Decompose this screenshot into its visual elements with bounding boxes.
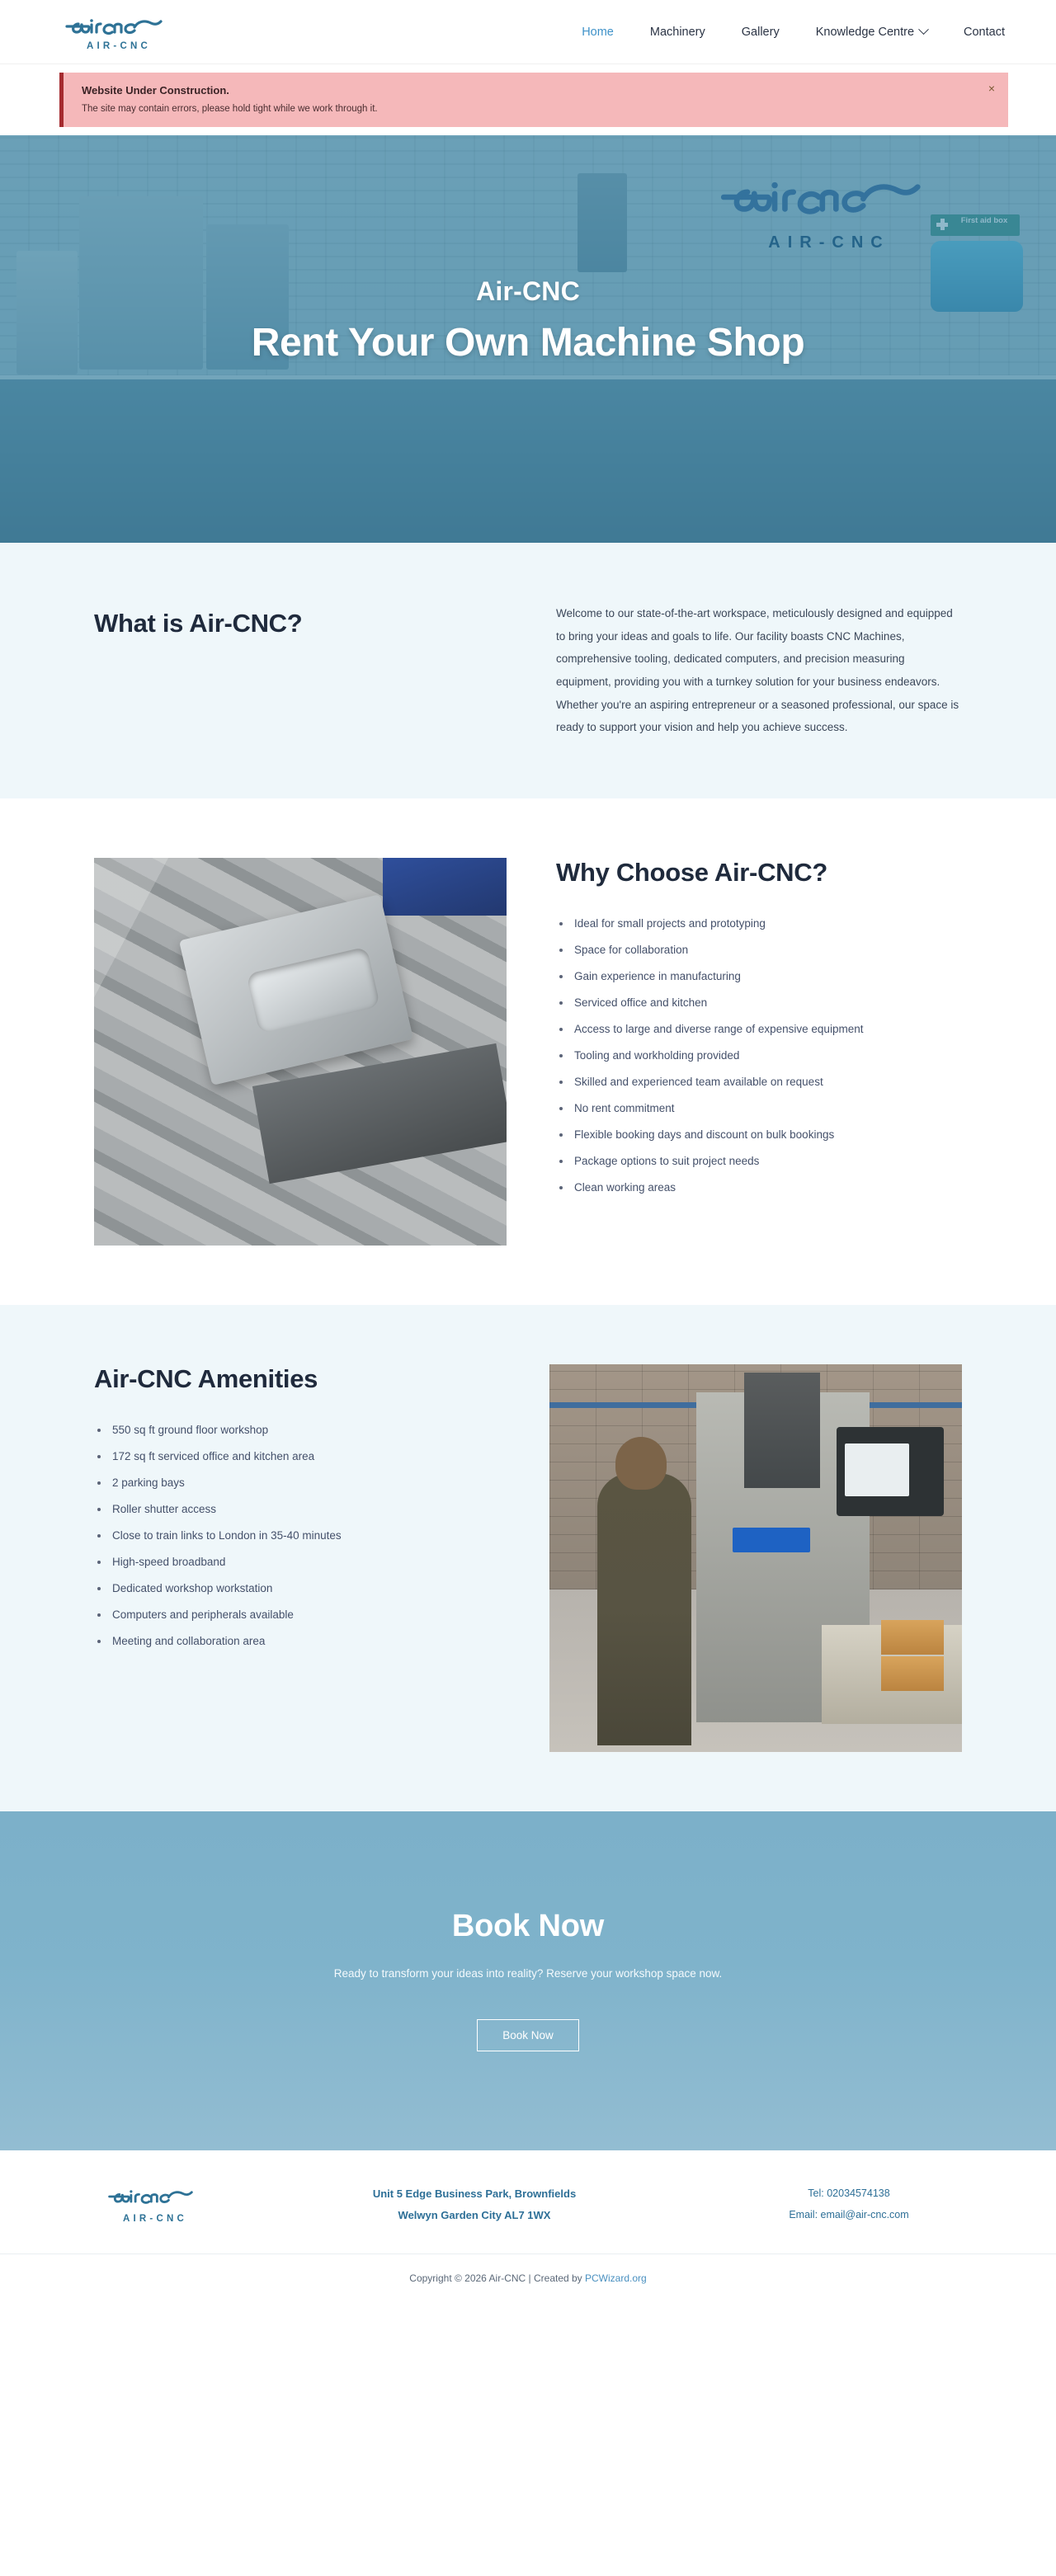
list-item: Skilled and experienced team available o… xyxy=(556,1076,962,1088)
cta-title: Book Now xyxy=(0,1909,1056,1944)
brand-wordmark: AIR-CNC xyxy=(83,41,151,51)
nav-label: Home xyxy=(582,26,614,39)
amenities-section: Air-CNC Amenities 550 sq ft ground floor… xyxy=(0,1305,1056,1811)
footer-contact: Tel: 02034574138 Email: email@air-cnc.co… xyxy=(713,2183,985,2225)
site-header: AIR-CNC Home Machinery Gallery Knowledge… xyxy=(0,0,1056,64)
address-line-2: Welwyn Garden City AL7 1WX xyxy=(236,2205,713,2225)
nav-label: Knowledge Centre xyxy=(816,26,914,39)
nav-item-gallery[interactable]: Gallery xyxy=(742,26,780,39)
hero-section: First aid box AIR-CNC Air-CNC Rent Your … xyxy=(0,135,1056,543)
nav-label: Gallery xyxy=(742,26,780,39)
nav-label: Contact xyxy=(964,26,1005,39)
nav-item-machinery[interactable]: Machinery xyxy=(650,26,705,39)
list-item: 2 parking bays xyxy=(94,1476,500,1489)
hero-eyebrow: Air-CNC xyxy=(476,276,580,307)
alert-title: Website Under Construction. xyxy=(82,84,975,97)
main-navigation: Home Machinery Gallery Knowledge Centre … xyxy=(582,26,1020,39)
list-item: 550 sq ft ground floor workshop xyxy=(94,1424,500,1436)
chevron-down-icon xyxy=(918,24,929,35)
list-item: Clean working areas xyxy=(556,1181,962,1194)
list-item: Gain experience in manufacturing xyxy=(556,970,962,982)
list-item: Roller shutter access xyxy=(94,1503,500,1515)
why-choose-heading: Why Choose Air-CNC? xyxy=(556,858,962,888)
footer-address: Unit 5 Edge Business Park, Brownfields W… xyxy=(236,2183,713,2225)
aircnc-script-icon xyxy=(105,2185,202,2212)
machined-part-photo xyxy=(94,858,507,1246)
why-choose-section: Why Choose Air-CNC? Ideal for small proj… xyxy=(0,798,1056,1305)
amenities-body: Air-CNC Amenities 550 sq ft ground floor… xyxy=(94,1364,500,1661)
copyright-text: Copyright © 2026 Air-CNC | Created by xyxy=(409,2272,585,2284)
address-line-1: Unit 5 Edge Business Park, Brownfields xyxy=(236,2183,713,2204)
list-item: 172 sq ft serviced office and kitchen ar… xyxy=(94,1450,500,1462)
amenities-list: 550 sq ft ground floor workshop 172 sq f… xyxy=(94,1424,500,1647)
about-paragraph: Welcome to our state-of-the-art workspac… xyxy=(556,602,962,739)
list-item: Close to train links to London in 35-40 … xyxy=(94,1529,500,1542)
why-choose-body: Why Choose Air-CNC? Ideal for small proj… xyxy=(556,858,962,1208)
nav-item-contact[interactable]: Contact xyxy=(964,26,1005,39)
brand-logo[interactable]: AIR-CNC xyxy=(51,13,183,51)
footer-copyright-bar: Copyright © 2026 Air-CNC | Created by PC… xyxy=(0,2253,1056,2305)
alert-region: Website Under Construction. The site may… xyxy=(0,64,1056,127)
site-footer: AIR-CNC Unit 5 Edge Business Park, Brown… xyxy=(0,2150,1056,2305)
aircnc-script-icon xyxy=(64,13,171,40)
book-now-button[interactable]: Book Now xyxy=(477,2019,579,2051)
list-item: Access to large and diverse range of exp… xyxy=(556,1023,962,1035)
about-body-col: Welcome to our state-of-the-art workspac… xyxy=(556,602,962,739)
nav-item-home[interactable]: Home xyxy=(582,26,614,39)
list-item: Package options to suit project needs xyxy=(556,1155,962,1167)
about-heading-col: What is Air-CNC? xyxy=(94,602,507,638)
why-choose-list: Ideal for small projects and prototyping… xyxy=(556,917,962,1194)
eye-protection-sign xyxy=(733,1528,810,1552)
list-item: Ideal for small projects and prototyping xyxy=(556,917,962,930)
list-item: Dedicated workshop workstation xyxy=(94,1582,500,1594)
book-now-section: Book Now Ready to transform your ideas i… xyxy=(0,1811,1056,2150)
close-icon[interactable]: × xyxy=(988,82,995,94)
cta-subtitle: Ready to transform your ideas into reali… xyxy=(0,1967,1056,1980)
footer-brand-logo[interactable]: AIR-CNC xyxy=(71,2185,236,2224)
credit-link[interactable]: PCWizard.org xyxy=(585,2272,647,2284)
construction-alert: Website Under Construction. The site may… xyxy=(59,73,1008,127)
list-item: Flexible booking days and discount on bu… xyxy=(556,1128,962,1141)
list-item: Meeting and collaboration area xyxy=(94,1635,500,1647)
about-section: What is Air-CNC? Welcome to our state-of… xyxy=(0,543,1056,798)
list-item: Serviced office and kitchen xyxy=(556,996,962,1009)
hero-title: Rent Your Own Machine Shop xyxy=(252,320,805,365)
nav-item-knowledge-centre[interactable]: Knowledge Centre xyxy=(816,26,927,39)
amenities-heading: Air-CNC Amenities xyxy=(94,1364,500,1394)
footer-wordmark: AIR-CNC xyxy=(120,2214,187,2224)
list-item: No rent commitment xyxy=(556,1102,962,1114)
footer-email[interactable]: Email: email@air-cnc.com xyxy=(713,2205,985,2226)
list-item: Computers and peripherals available xyxy=(94,1608,500,1621)
nav-label: Machinery xyxy=(650,26,705,39)
about-heading: What is Air-CNC? xyxy=(94,609,507,638)
hero-content: Air-CNC Rent Your Own Machine Shop xyxy=(0,135,1056,543)
workshop-machine-photo xyxy=(549,1364,962,1752)
list-item: Space for collaboration xyxy=(556,944,962,956)
alert-message: The site may contain errors, please hold… xyxy=(82,104,975,114)
list-item: High-speed broadband xyxy=(94,1556,500,1568)
footer-telephone[interactable]: Tel: 02034574138 xyxy=(713,2183,985,2205)
list-item: Tooling and workholding provided xyxy=(556,1049,962,1062)
